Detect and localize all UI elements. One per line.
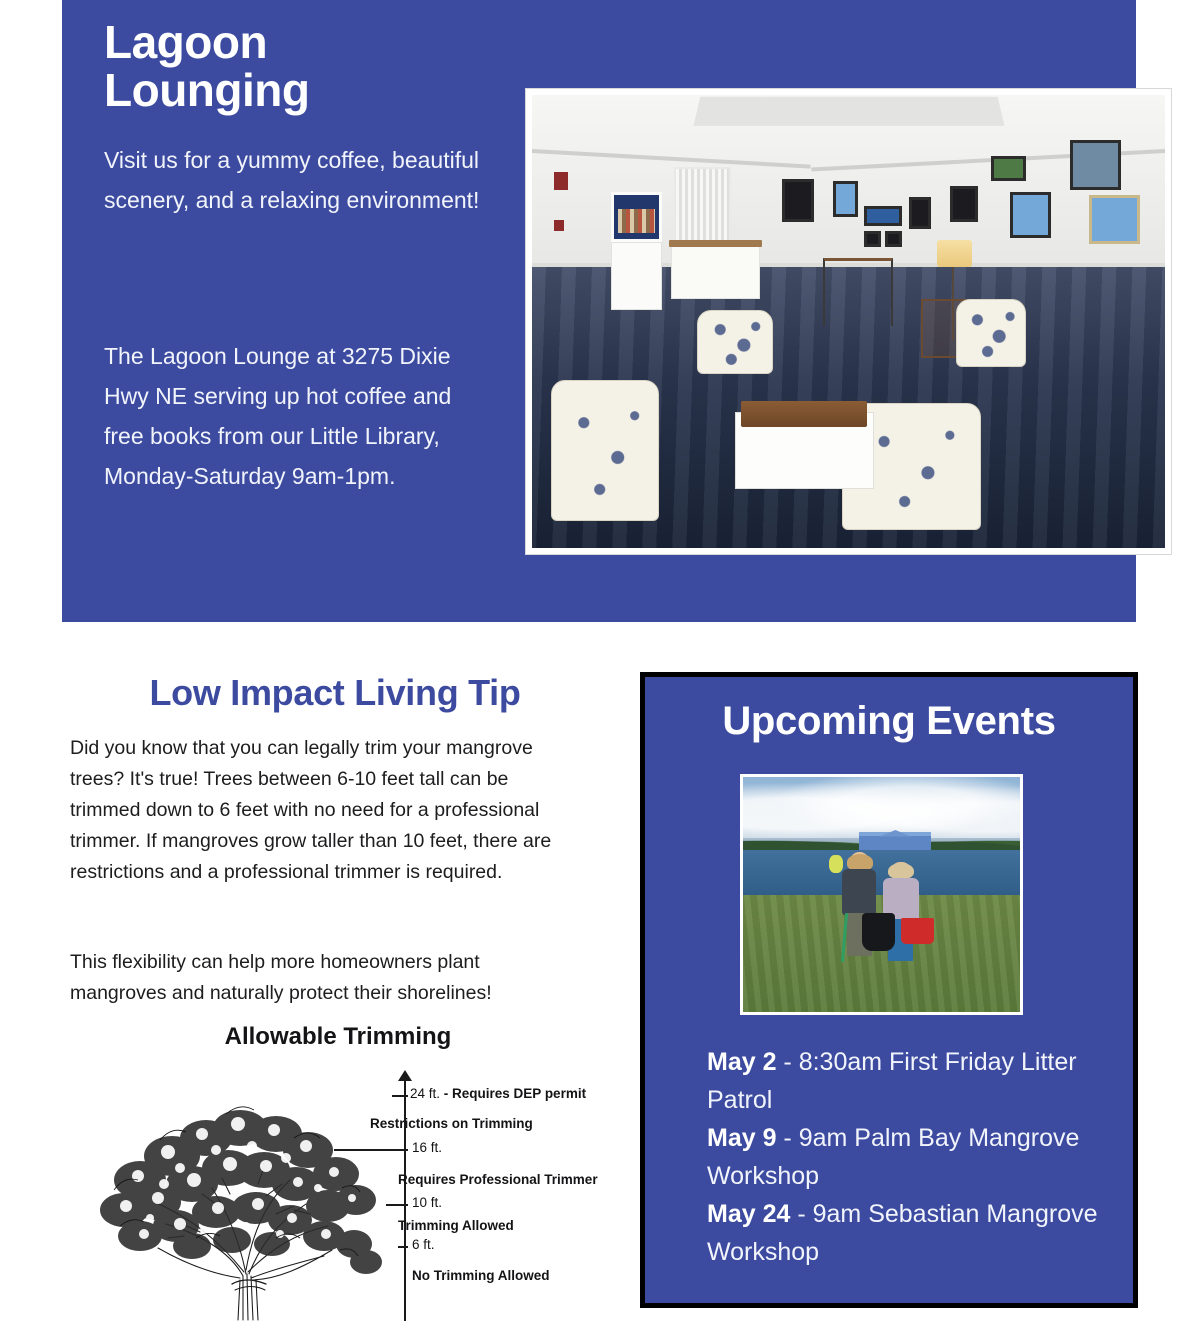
bistro-table xyxy=(823,258,893,326)
blue-building xyxy=(859,832,931,851)
lagoon-lounging-banner: Lagoon Lounging Visit us for a yummy cof… xyxy=(62,0,1136,622)
framed-art-6 xyxy=(909,197,932,229)
banner-title-line1: Lagoon xyxy=(104,16,267,68)
allowable-trimming-diagram: 24 ft. - Requires DEP permit Restriction… xyxy=(66,1070,626,1321)
marker-24ft-note: - Requires DEP permit xyxy=(440,1086,586,1101)
zone-trimming-allowed: Trimming Allowed xyxy=(398,1218,514,1233)
console-table xyxy=(671,244,760,298)
low-impact-paragraph-2: This flexibility can help more homeowner… xyxy=(70,947,570,1009)
yellow-glove xyxy=(829,855,843,874)
tick-16ft xyxy=(334,1149,408,1151)
trash-bag xyxy=(862,913,895,951)
banner-title-line2: Lounging xyxy=(104,64,309,116)
volunteer-1-shirt xyxy=(842,869,876,914)
fire-alarm-icon xyxy=(554,172,568,190)
marker-6ft: 6 ft. xyxy=(412,1237,435,1252)
framed-art-8 xyxy=(991,156,1026,181)
library-stand xyxy=(611,242,662,310)
lagoon-lounge-interior-photo xyxy=(532,95,1165,548)
marker-24ft-height: 24 ft. xyxy=(410,1086,440,1101)
event-1-dash: - xyxy=(776,1048,798,1076)
ceiling xyxy=(693,97,1004,126)
events-list: May 2 - 8:30am First Friday Litter Patro… xyxy=(707,1043,1107,1271)
height-axis xyxy=(404,1078,406,1321)
event-2-date: May 9 xyxy=(707,1124,776,1152)
allowable-trimming-heading: Allowable Trimming xyxy=(70,1023,606,1051)
banner-paragraph-1: Visit us for a yummy coffee, beautiful s… xyxy=(104,140,484,220)
newsletter-page: Lagoon Lounging Visit us for a yummy cof… xyxy=(0,0,1200,1321)
tick-24ft xyxy=(392,1095,408,1097)
framed-art-5 xyxy=(885,231,901,247)
floor-lamp-shade xyxy=(937,240,972,267)
framed-art-11 xyxy=(1089,195,1140,245)
marker-24ft: 24 ft. - Requires DEP permit xyxy=(410,1086,586,1101)
event-3-date: May 24 xyxy=(707,1200,790,1228)
marker-16ft: 16 ft. xyxy=(412,1140,442,1155)
event-item-2: May 9 - 9am Palm Bay Mangrove Workshop xyxy=(707,1119,1107,1195)
framed-art-7 xyxy=(950,186,978,222)
banner-paragraph-2: The Lagoon Lounge at 3275 Dixie Hwy NE s… xyxy=(104,336,494,496)
low-impact-heading: Low Impact Living Tip xyxy=(100,672,570,714)
events-photo-frame xyxy=(740,774,1023,1015)
event-item-1: May 2 - 8:30am First Friday Litter Patro… xyxy=(707,1043,1107,1119)
tick-6ft xyxy=(398,1246,408,1248)
volunteer-2-hair xyxy=(888,863,915,880)
zone-requires-professional-trimmer: Requires Professional Trimmer xyxy=(398,1172,598,1187)
event-2-dash: - xyxy=(776,1124,798,1152)
tick-10ft xyxy=(386,1204,408,1206)
event-3-dash: - xyxy=(790,1200,812,1228)
armchair-1 xyxy=(697,310,773,373)
framed-art-1 xyxy=(782,179,814,222)
coffee-table xyxy=(735,412,874,489)
framed-art-4 xyxy=(864,231,880,247)
framed-art-2 xyxy=(833,181,858,217)
zone-restrictions-on-trimming: Restrictions on Trimming xyxy=(370,1116,533,1131)
armchair-3 xyxy=(551,380,659,520)
framed-art-10 xyxy=(1070,140,1121,190)
event-1-date: May 2 xyxy=(707,1048,776,1076)
upcoming-events-title: Upcoming Events xyxy=(645,699,1133,744)
marker-10ft: 10 ft. xyxy=(412,1195,442,1210)
banner-title: Lagoon Lounging xyxy=(104,18,504,115)
mangrove-tree-line-drawing xyxy=(80,1084,410,1321)
red-bucket xyxy=(901,918,934,944)
low-impact-paragraph-1: Did you know that you can legally trim y… xyxy=(70,733,570,888)
framed-art-3 xyxy=(864,206,902,226)
lounge-photo-frame xyxy=(526,89,1171,554)
event-item-3: May 24 - 9am Sebastian Mangrove Workshop xyxy=(707,1195,1107,1271)
outlet-icon xyxy=(554,220,564,232)
little-library-cabinet xyxy=(611,192,662,242)
volunteer-1-hair xyxy=(847,854,873,870)
upcoming-events-box: Upcoming Events xyxy=(640,672,1138,1308)
armchair-2 xyxy=(956,299,1026,367)
volunteers-litter-patrol-lagoon-photo xyxy=(743,777,1020,1012)
zone-no-trimming-allowed: No Trimming Allowed xyxy=(412,1268,550,1283)
framed-art-9 xyxy=(1010,192,1051,237)
